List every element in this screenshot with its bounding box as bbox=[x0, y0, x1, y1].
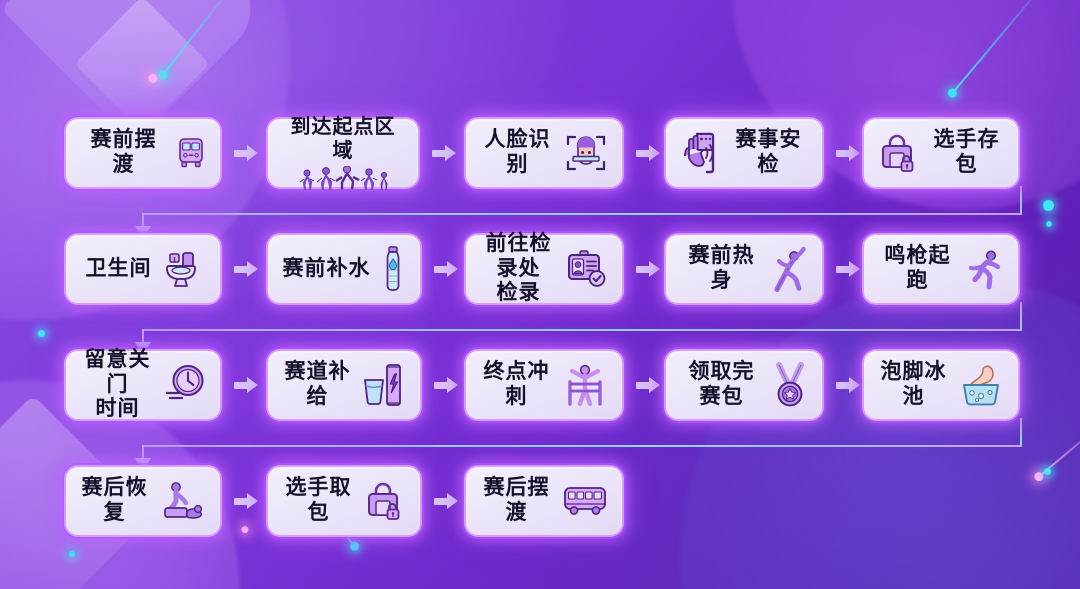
arrow-row2-3-to-4 bbox=[836, 261, 860, 277]
arrow-row3-3-to-4 bbox=[836, 377, 860, 393]
crowd-runners-icon bbox=[295, 166, 391, 190]
step-card-row1-3[interactable]: 赛事安检 bbox=[664, 117, 824, 189]
bus-icon bbox=[176, 137, 206, 169]
step-card-row2-1[interactable]: 赛前补水 bbox=[266, 233, 422, 305]
arrow-row2-2-to-3 bbox=[636, 261, 660, 277]
face-recognition-icon bbox=[564, 131, 608, 175]
step-card-row2-0[interactable]: 卫生间 bbox=[64, 233, 222, 305]
connector-row3-to-row4 bbox=[142, 418, 1022, 468]
stretching-icon bbox=[772, 246, 808, 292]
step-card-row3-0[interactable]: 留意关门 时间 bbox=[64, 349, 222, 421]
step-card-row3-3[interactable]: 领取完赛包 bbox=[664, 349, 824, 421]
step-label: 终点冲刺 bbox=[480, 360, 553, 410]
step-card-row2-3[interactable]: 赛前热身 bbox=[664, 233, 824, 305]
step-card-row1-2[interactable]: 人脸识别 bbox=[464, 117, 624, 189]
step-label: 选手取包 bbox=[282, 476, 355, 526]
step-label: 赛前热身 bbox=[680, 244, 763, 294]
step-label: 赛道补给 bbox=[282, 360, 353, 410]
step-label: 前往检录处 检录 bbox=[480, 232, 557, 306]
bus-side-icon bbox=[562, 484, 608, 518]
step-label: 赛事安检 bbox=[729, 128, 808, 178]
clock-icon bbox=[164, 363, 206, 407]
step-label: 赛前补水 bbox=[283, 257, 371, 282]
cup-gel-icon bbox=[362, 362, 406, 408]
step-card-row3-1[interactable]: 赛道补给 bbox=[266, 349, 422, 421]
step-label: 选手存包 bbox=[929, 128, 1004, 178]
ice-bath-icon bbox=[958, 362, 1004, 408]
arrow-row1-1-to-2 bbox=[432, 145, 456, 161]
arrow-row2-1-to-2 bbox=[434, 261, 458, 277]
step-label: 卫生间 bbox=[86, 257, 152, 282]
arrow-row4-0-to-1 bbox=[234, 493, 258, 509]
bag-storage-icon bbox=[364, 480, 406, 522]
arrow-row4-1-to-2 bbox=[434, 493, 458, 509]
flowchart-canvas: 赛前摆渡 到达起点区域 bbox=[0, 0, 1080, 589]
toilet-icon bbox=[161, 248, 201, 290]
step-label: 人脸识别 bbox=[480, 128, 555, 178]
water-bottle-icon bbox=[380, 245, 406, 293]
massage-icon bbox=[158, 480, 206, 522]
arrow-row1-3-to-4 bbox=[836, 145, 860, 161]
step-label: 赛后摆渡 bbox=[480, 476, 553, 526]
arrow-row2-0-to-1 bbox=[234, 261, 258, 277]
step-card-row1-1[interactable]: 到达起点区域 bbox=[266, 117, 420, 189]
security-scan-icon bbox=[680, 130, 720, 176]
connector-row1-to-row2 bbox=[142, 186, 1022, 236]
step-card-row1-0[interactable]: 赛前摆渡 bbox=[64, 117, 222, 189]
step-label: 到达起点区域 bbox=[282, 116, 404, 163]
medal-icon bbox=[772, 362, 808, 408]
finish-line-icon bbox=[562, 362, 608, 408]
id-card-check-icon bbox=[566, 249, 608, 289]
connector-row2-to-row3 bbox=[142, 302, 1022, 352]
arrow-row1-0-to-1 bbox=[234, 145, 258, 161]
arrow-row3-0-to-1 bbox=[234, 377, 258, 393]
bag-storage-icon bbox=[878, 132, 920, 174]
arrow-row3-1-to-2 bbox=[434, 377, 458, 393]
flow-diagram: 赛前摆渡 到达起点区域 bbox=[0, 0, 1080, 589]
step-card-row4-1[interactable]: 选手取包 bbox=[266, 465, 422, 537]
step-card-row4-2[interactable]: 赛后摆渡 bbox=[464, 465, 624, 537]
step-label: 领取完赛包 bbox=[680, 360, 763, 410]
step-label: 鸣枪起跑 bbox=[878, 244, 957, 294]
arrow-row3-2-to-3 bbox=[636, 377, 660, 393]
step-card-row2-2[interactable]: 前往检录处 检录 bbox=[464, 233, 624, 305]
step-label: 泡脚冰池 bbox=[878, 360, 949, 410]
step-label: 留意关门 时间 bbox=[80, 348, 155, 422]
step-card-row2-4[interactable]: 鸣枪起跑 bbox=[862, 233, 1020, 305]
step-card-row1-4[interactable]: 选手存包 bbox=[862, 117, 1020, 189]
step-card-row4-0[interactable]: 赛后恢复 bbox=[64, 465, 222, 537]
step-card-row3-4[interactable]: 泡脚冰池 bbox=[862, 349, 1020, 421]
step-label: 赛后恢复 bbox=[80, 476, 149, 526]
step-label: 赛前摆渡 bbox=[80, 128, 167, 178]
running-icon bbox=[966, 248, 1004, 290]
step-card-row3-2[interactable]: 终点冲刺 bbox=[464, 349, 624, 421]
arrow-row1-2-to-3 bbox=[636, 145, 660, 161]
